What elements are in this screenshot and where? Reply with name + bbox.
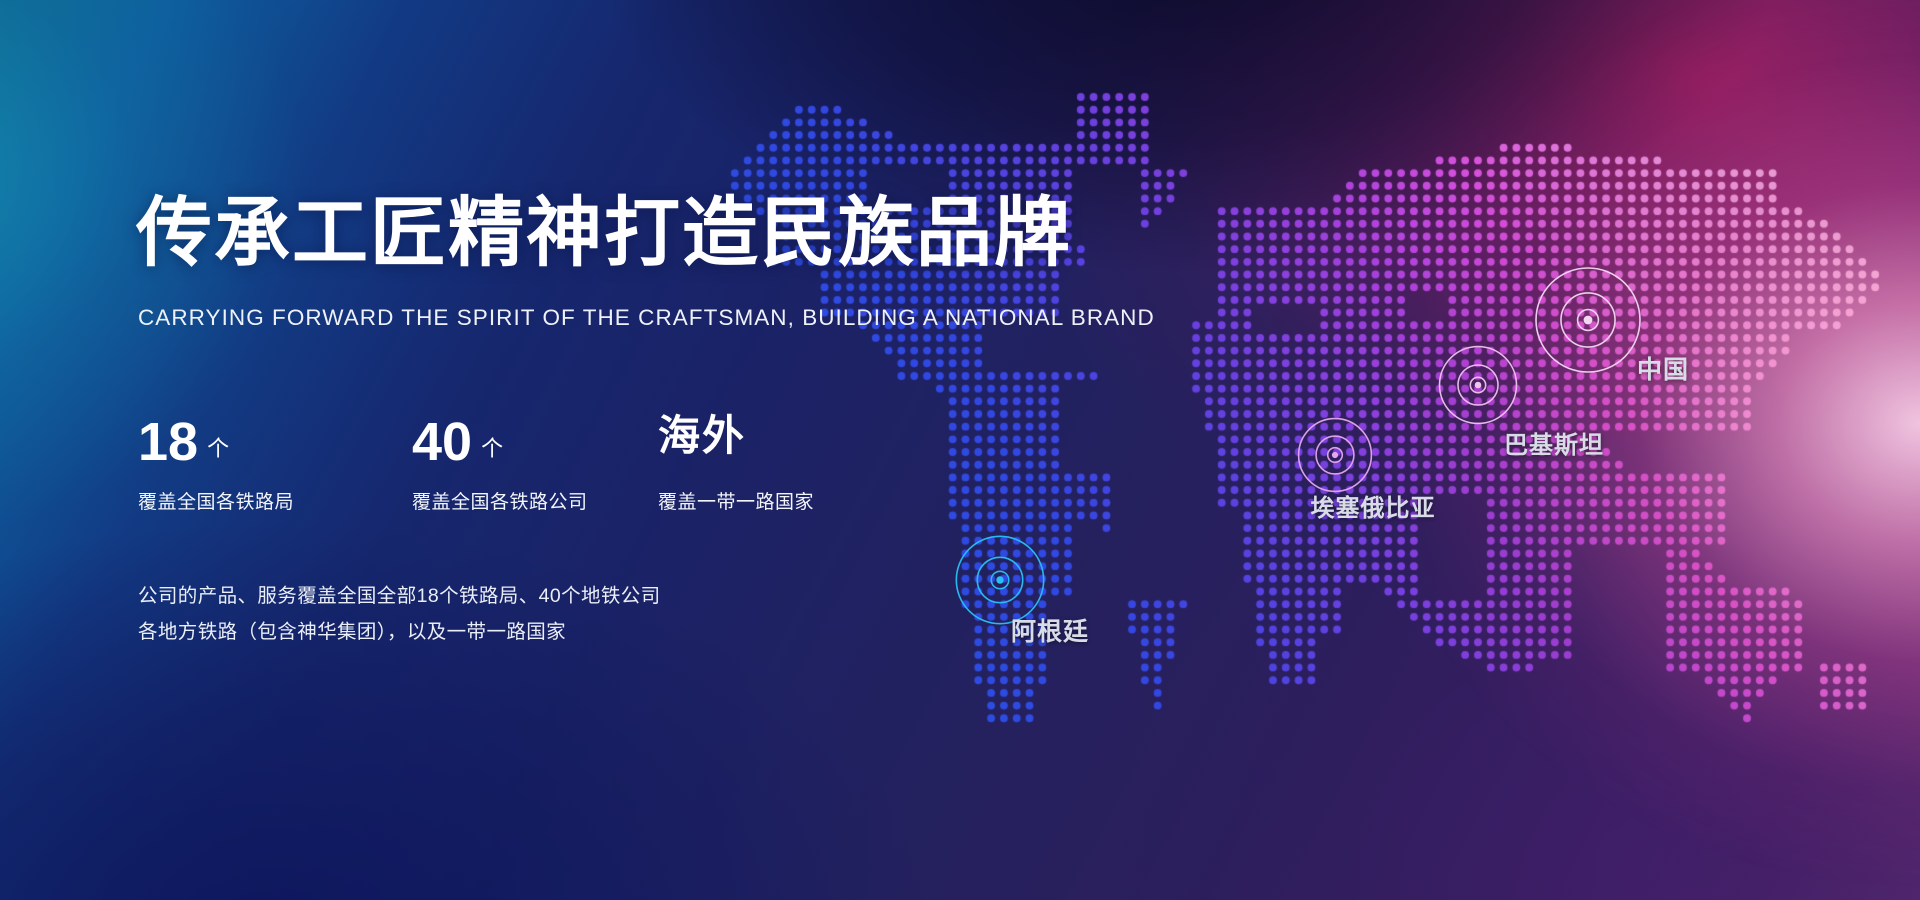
- stat-value: 海外: [658, 415, 746, 457]
- stat-value-row: 18 个: [138, 415, 412, 475]
- stat-item-railway-companies: 40 个 覆盖全国各铁路公司: [412, 415, 658, 514]
- stat-unit: 个: [481, 431, 503, 463]
- stat-unit: 个: [207, 431, 229, 463]
- stat-value: 40: [412, 415, 472, 469]
- stat-description: 覆盖全国各铁路局: [138, 487, 412, 514]
- description-line-1: 公司的产品、服务覆盖全国全部18个铁路局、40个地铁公司: [138, 578, 661, 614]
- stats-row: 18 个 覆盖全国各铁路局 40 个 覆盖全国各铁路公司 海外 覆盖一带一路国家: [138, 415, 898, 514]
- stat-item-railway-bureaus: 18 个 覆盖全国各铁路局: [138, 415, 412, 514]
- content-column: 传承工匠精神打造民族品牌 CARRYING FORWARD THE SPIRIT…: [136, 0, 956, 900]
- page-title: 传承工匠精神打造民族品牌: [136, 196, 1072, 272]
- map-label-china: 中国: [1637, 350, 1689, 386]
- stat-description: 覆盖一带一路国家: [658, 487, 898, 514]
- map-label-ethiopia: 埃塞俄比亚: [1311, 488, 1436, 523]
- description-line-2: 各地方铁路（包含神华集团），以及一带一路国家: [138, 614, 661, 650]
- banner-stage: 中国巴基斯坦埃塞俄比亚阿根廷 传承工匠精神打造民族品牌 CARRYING FOR…: [0, 0, 1920, 900]
- page-subtitle: CARRYING FORWARD THE SPIRIT OF THE CRAFT…: [138, 305, 1155, 331]
- stat-value-row: 海外: [658, 415, 898, 475]
- stat-value: 18: [138, 415, 198, 469]
- description-paragraph: 公司的产品、服务覆盖全国全部18个铁路局、40个地铁公司 各地方铁路（包含神华集…: [138, 578, 661, 650]
- map-label-argentina: 阿根廷: [1011, 612, 1089, 648]
- stat-description: 覆盖全国各铁路公司: [412, 487, 658, 514]
- map-label-pakistan: 巴基斯坦: [1504, 425, 1604, 460]
- stat-value-row: 40 个: [412, 415, 658, 475]
- stat-item-overseas: 海外 覆盖一带一路国家: [658, 415, 898, 514]
